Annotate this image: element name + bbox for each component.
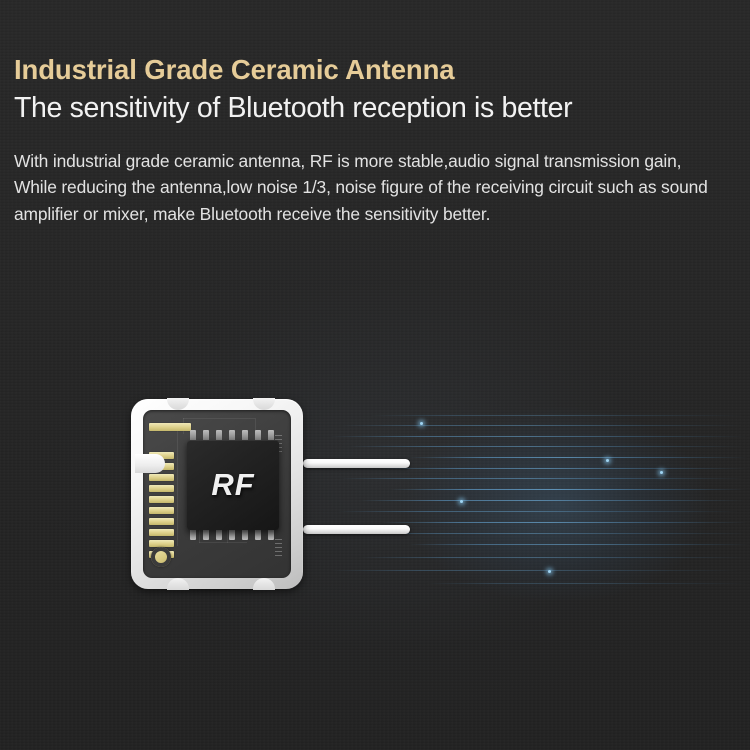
gold-contact-pad: [149, 485, 174, 492]
feature-description-text: With industrial grade ceramic antenna, R…: [14, 148, 726, 227]
signal-line: [330, 436, 748, 437]
product-feature-banner: Industrial Grade Ceramic Antenna The sen…: [0, 0, 750, 750]
signal-line: [350, 533, 748, 534]
feature-text-block: Industrial Grade Ceramic Antenna The sen…: [14, 54, 738, 227]
rf-chip-label: RF: [187, 467, 279, 503]
antenna-lead: [303, 525, 410, 534]
signal-line: [426, 583, 750, 584]
rf-signal-waves: [330, 400, 750, 600]
gold-contact-pad: [149, 474, 174, 481]
signal-line: [376, 468, 748, 469]
module-pcb: RF: [143, 410, 291, 578]
gold-contact-pad: [149, 496, 174, 503]
signal-line: [408, 544, 750, 545]
mount-cutout-bottom-left: [167, 578, 189, 590]
pcb-trace: [199, 542, 247, 543]
gold-contact-pad: [149, 540, 174, 547]
gold-via-pad: [151, 547, 171, 567]
mount-cutout-top-right: [253, 398, 275, 410]
signal-line: [370, 415, 745, 416]
pcb-trace: [177, 428, 178, 546]
signal-dot: [420, 422, 423, 425]
signal-line: [342, 425, 742, 426]
pcb-trace: [199, 530, 200, 543]
rf-chip: RF: [187, 440, 279, 530]
pcb-trace: [183, 418, 255, 419]
signal-dot: [606, 459, 609, 462]
mount-cutout-bottom-right: [253, 578, 275, 590]
gold-contact-pad: [149, 529, 174, 536]
signal-line: [338, 511, 738, 512]
gold-contact-pad: [149, 507, 174, 514]
antenna-lead: [303, 459, 410, 468]
page-title: Industrial Grade Ceramic Antenna: [14, 54, 738, 85]
mount-cutout-top-left: [167, 398, 189, 410]
gold-arrow-pad: [149, 423, 191, 431]
module-metal-frame: RF: [131, 399, 303, 589]
page-subtitle: The sensitivity of Bluetooth reception i…: [14, 92, 738, 126]
signal-line: [348, 446, 743, 447]
signal-line: [390, 489, 745, 490]
signal-line: [340, 478, 745, 479]
signal-line: [330, 570, 740, 571]
signal-line: [382, 522, 747, 523]
signal-dot: [548, 570, 551, 573]
signal-line: [408, 457, 748, 458]
silkscreen-marks-bottom: [275, 536, 282, 556]
pcb-trace: [227, 530, 228, 543]
frame-notch: [135, 454, 165, 473]
signal-dot: [660, 471, 663, 474]
feature-description: With industrial grade ceramic antenna, R…: [14, 148, 726, 227]
signal-line: [360, 500, 745, 501]
signal-line: [360, 557, 748, 558]
gold-contact-pad: [149, 518, 174, 525]
rf-antenna-module: RF: [131, 399, 303, 589]
signal-dot: [460, 500, 463, 503]
